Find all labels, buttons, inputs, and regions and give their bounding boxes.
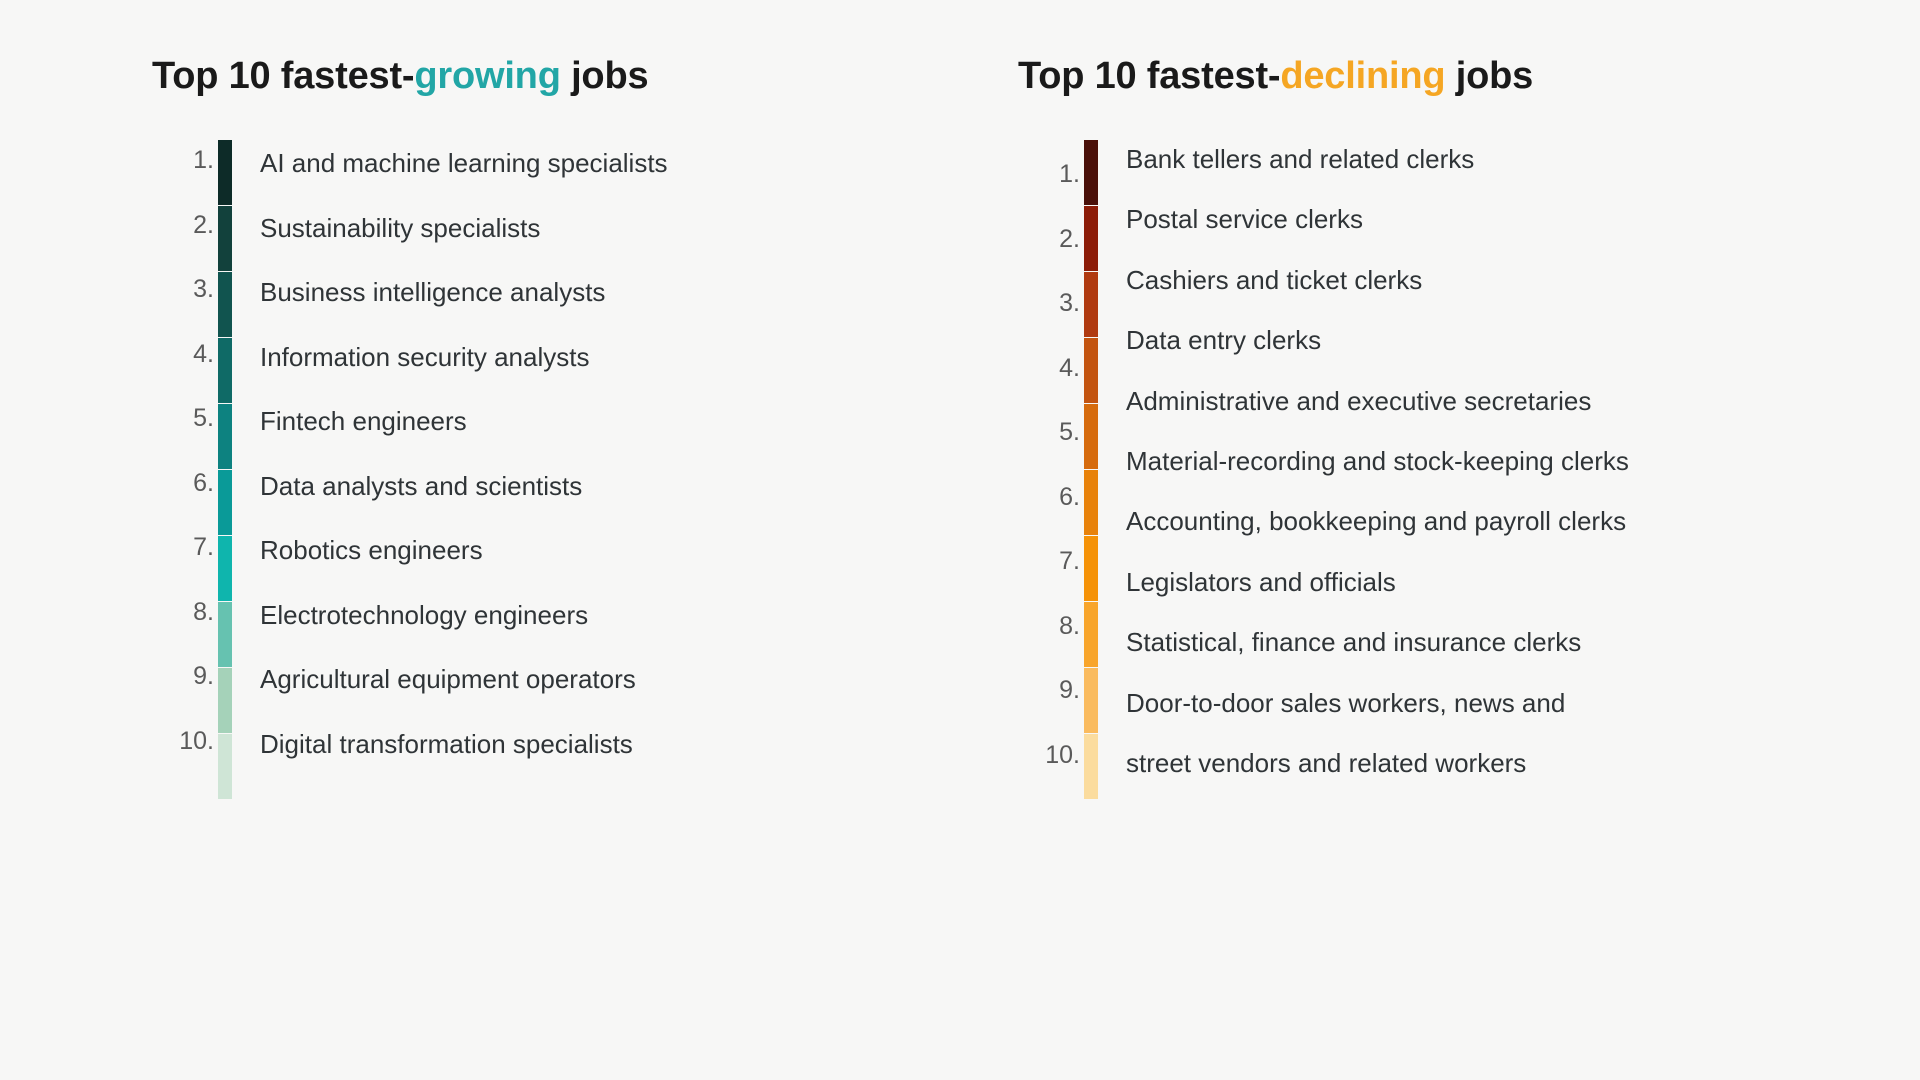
job-label: Postal service clerks xyxy=(1126,206,1363,232)
rank-number: 4. xyxy=(193,342,214,367)
gradient-segment xyxy=(218,602,232,667)
gradient-segment xyxy=(1084,602,1098,667)
rank-number: 4. xyxy=(1059,356,1080,381)
rank-number: 5. xyxy=(1059,420,1080,445)
color-gradient-bar-growing xyxy=(218,140,232,800)
title-accent-declining: declining xyxy=(1280,55,1445,97)
gradient-segment xyxy=(218,140,232,205)
job-label: Data analysts and scientists xyxy=(260,473,582,499)
rank-number: 9. xyxy=(1059,678,1080,703)
job-label: Material-recording and stock-keeping cle… xyxy=(1126,448,1629,474)
infographic-root: Top 10 fastest-growing jobs 1.2.3.4.5.6.… xyxy=(0,0,1920,1080)
rank-number: 7. xyxy=(1059,549,1080,574)
rank-number: 6. xyxy=(1059,485,1080,510)
job-label: Digital transformation specialists xyxy=(260,731,633,757)
rank-number: 10. xyxy=(1045,743,1080,768)
rank-number: 1. xyxy=(193,148,214,173)
gradient-segment xyxy=(218,734,232,799)
job-label: Statistical, finance and insurance clerk… xyxy=(1126,629,1581,655)
job-label: Agricultural equipment operators xyxy=(260,666,636,692)
job-label: Accounting, bookkeeping and payroll cler… xyxy=(1126,508,1626,534)
rank-number: 2. xyxy=(1059,227,1080,252)
gradient-segment xyxy=(1084,272,1098,337)
gradient-segment xyxy=(218,338,232,403)
job-label: Fintech engineers xyxy=(260,408,467,434)
gradient-segment xyxy=(1084,140,1098,205)
rank-number: 9. xyxy=(193,664,214,689)
gradient-segment xyxy=(1084,734,1098,799)
rank-number: 3. xyxy=(1059,291,1080,316)
gradient-segment xyxy=(1084,470,1098,535)
job-label: Electrotechnology engineers xyxy=(260,602,588,628)
rank-number: 2. xyxy=(193,213,214,238)
gradient-segment xyxy=(1084,536,1098,601)
gradient-segment xyxy=(1084,206,1098,271)
job-label: Cashiers and ticket clerks xyxy=(1126,267,1422,293)
job-label: Data entry clerks xyxy=(1126,327,1321,353)
rank-number: 8. xyxy=(193,600,214,625)
job-label: Business intelligence analysts xyxy=(260,279,605,305)
rank-number: 5. xyxy=(193,406,214,431)
gradient-segment xyxy=(218,536,232,601)
rank-number: 6. xyxy=(193,471,214,496)
job-label: Legislators and officials xyxy=(1126,569,1396,595)
title-accent-growing: growing xyxy=(414,55,560,97)
job-label: Bank tellers and related clerks xyxy=(1126,146,1474,172)
rank-number: 10. xyxy=(179,729,214,754)
gradient-segment xyxy=(218,668,232,733)
rank-number: 1. xyxy=(1059,162,1080,187)
gradient-segment xyxy=(218,404,232,469)
rank-number: 3. xyxy=(193,277,214,302)
page-title-growing: Top 10 fastest-growing jobs xyxy=(152,55,648,98)
job-label: AI and machine learning specialists xyxy=(260,150,668,176)
gradient-segment xyxy=(218,470,232,535)
gradient-segment xyxy=(218,206,232,271)
rank-number: 7. xyxy=(193,535,214,560)
rank-number: 8. xyxy=(1059,614,1080,639)
gradient-segment xyxy=(1084,404,1098,469)
job-label: Door-to-door sales workers, news and xyxy=(1126,690,1565,716)
page-title-declining: Top 10 fastest-declining jobs xyxy=(1018,55,1533,98)
gradient-segment xyxy=(218,272,232,337)
title-prefix-growing: Top 10 fastest- xyxy=(152,55,414,97)
title-prefix-declining: Top 10 fastest- xyxy=(1018,55,1280,97)
job-label: street vendors and related workers xyxy=(1126,750,1526,776)
job-label: Sustainability specialists xyxy=(260,215,540,241)
gradient-segment xyxy=(1084,338,1098,403)
job-label: Information security analysts xyxy=(260,344,589,370)
job-label: Robotics engineers xyxy=(260,537,483,563)
title-suffix-growing: jobs xyxy=(561,55,649,97)
job-label: Administrative and executive secretaries xyxy=(1126,388,1591,414)
gradient-segment xyxy=(1084,668,1098,733)
title-suffix-declining: jobs xyxy=(1445,55,1533,97)
color-gradient-bar-declining xyxy=(1084,140,1098,800)
